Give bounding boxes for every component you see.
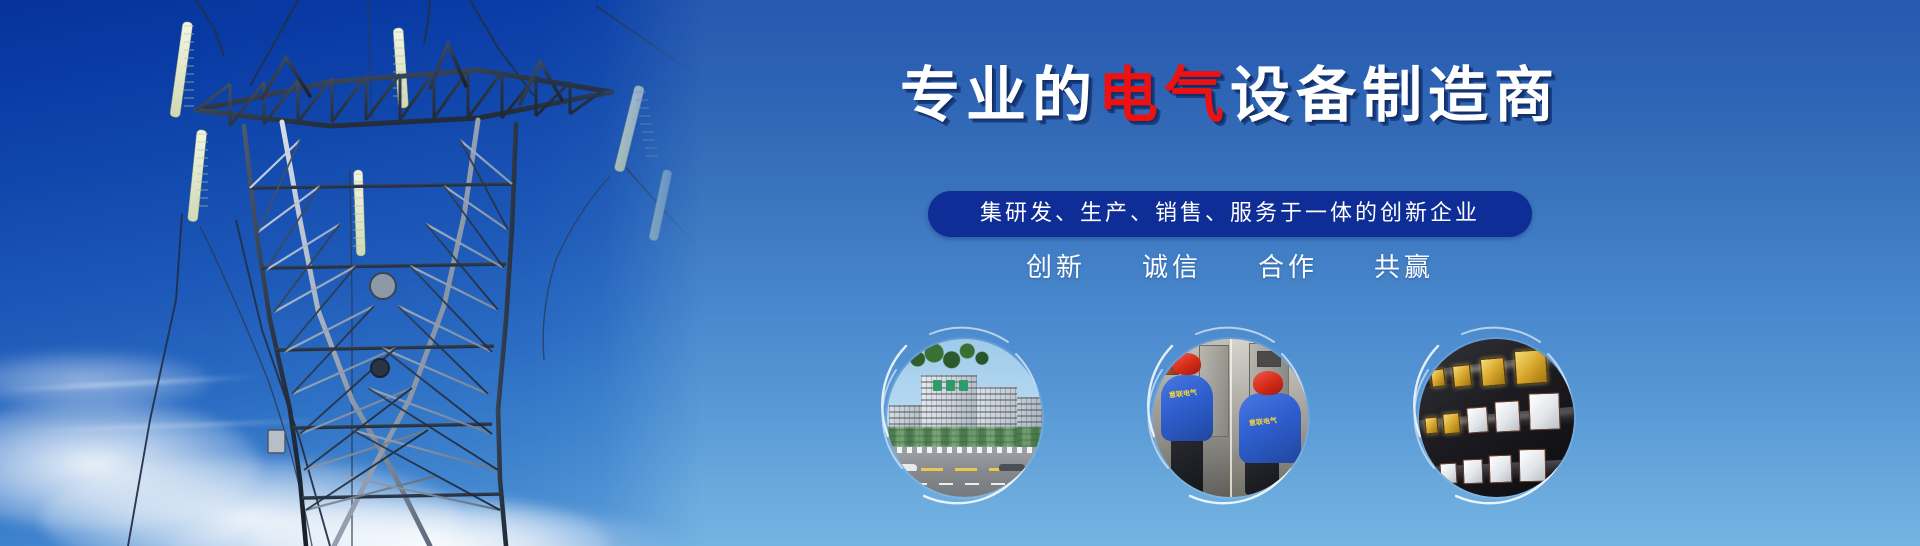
certificate-frame <box>1528 392 1560 430</box>
award-plaque <box>1442 412 1461 434</box>
photo-disc <box>1419 339 1574 497</box>
circle-photo-office-building[interactable] <box>866 318 1062 518</box>
award-plaque <box>1513 349 1547 385</box>
red-helmet <box>1173 353 1201 375</box>
award-plaque <box>1424 416 1438 434</box>
car <box>895 464 917 471</box>
keyword-item: 共赢 <box>1374 251 1434 285</box>
photo-divider <box>1230 339 1232 497</box>
road <box>887 453 1042 497</box>
headline-part-2-highlight: 电气 <box>1098 62 1230 129</box>
keyword-item: 诚信 <box>1142 251 1202 285</box>
certificate-frame <box>1488 455 1512 484</box>
certificate-frame <box>1420 465 1435 484</box>
award-plaque <box>1479 357 1505 387</box>
subtitle-pill-wrap: 集研发、生产、销售、服务于一体的创新企业 <box>660 191 1800 237</box>
worker-torso <box>1161 375 1213 441</box>
pylon-lattice-structure <box>0 0 700 546</box>
banner-content: 专业的电气设备制造商 集研发、生产、销售、服务于一体的创新企业 创新 诚信 合作… <box>660 0 1920 546</box>
award-plaque <box>1451 364 1471 388</box>
worker-torso <box>1239 393 1301 463</box>
keyword-item: 创新 <box>1026 251 1086 285</box>
circle-photo-technicians[interactable]: 意联电气 意联电气 <box>1132 318 1328 518</box>
tree-branch <box>901 339 993 375</box>
headline-part-3: 设备制造商 <box>1230 62 1560 129</box>
photo-disc <box>887 339 1042 497</box>
certificate-frame <box>1518 449 1546 482</box>
transmission-tower-photo <box>0 0 700 546</box>
certificate-frame <box>1462 459 1483 485</box>
keyword-item: 合作 <box>1258 251 1318 285</box>
car <box>999 464 1025 471</box>
switchgear-cabinet <box>1257 351 1281 367</box>
red-helmet <box>1253 371 1283 395</box>
tree-row <box>887 427 1042 447</box>
keyword-row: 创新 诚信 合作 共赢 <box>660 251 1800 285</box>
certificate-frame <box>1494 400 1521 432</box>
certificate-frame <box>1439 463 1457 485</box>
promo-banner: 专业的电气设备制造商 集研发、生产、销售、服务于一体的创新企业 创新 诚信 合作… <box>0 0 1920 546</box>
certificate-frame <box>1466 406 1489 433</box>
subtitle-pill: 集研发、生产、销售、服务于一体的创新企业 <box>928 191 1532 237</box>
photo-disc: 意联电气 意联电气 <box>1153 339 1308 497</box>
page-title: 专业的电气设备制造商 <box>660 62 1800 130</box>
award-plaque <box>1429 368 1445 388</box>
circle-photo-row: 意联电气 意联电气 <box>660 318 1800 518</box>
headline-part-1: 专业的 <box>900 62 1098 129</box>
circle-photo-certificate-wall[interactable] <box>1398 318 1594 518</box>
